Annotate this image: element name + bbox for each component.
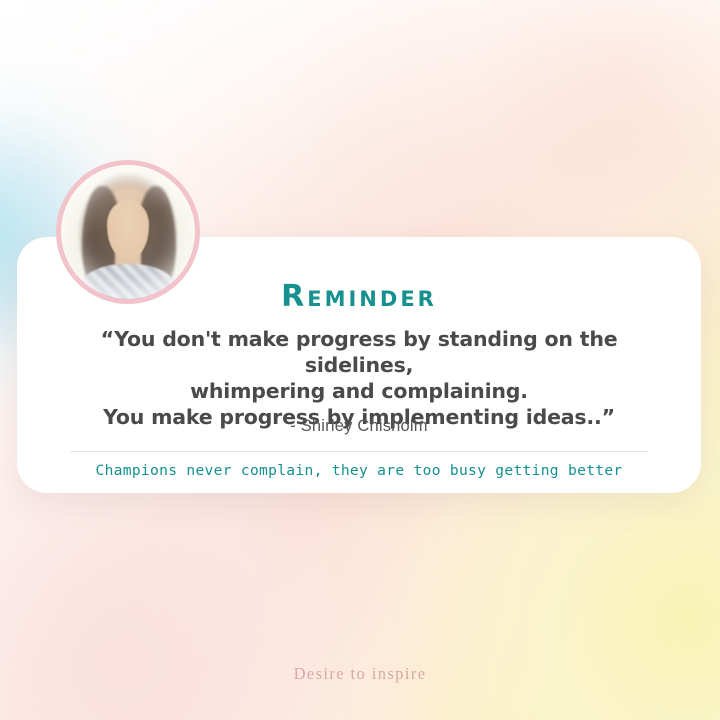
quote-author: - Shirley Chisholm xyxy=(17,417,701,436)
divider xyxy=(70,451,648,452)
avatar-clothing xyxy=(77,264,179,299)
brand-tagline: Desire to inspire xyxy=(0,664,720,684)
avatar-face xyxy=(107,200,150,259)
avatar-vignette xyxy=(61,165,195,299)
avatar-neck xyxy=(115,248,142,275)
avatar-hair-left xyxy=(82,186,122,291)
avatar xyxy=(56,160,200,304)
avatar-hair-right xyxy=(136,186,176,291)
quote-poster: Reminder “You don't make progress by sta… xyxy=(0,0,720,720)
tagline-text: Champions never complain, they are too b… xyxy=(41,462,677,479)
quote-text: “You don't make progress by standing on … xyxy=(51,326,667,430)
avatar-photo xyxy=(61,165,195,299)
